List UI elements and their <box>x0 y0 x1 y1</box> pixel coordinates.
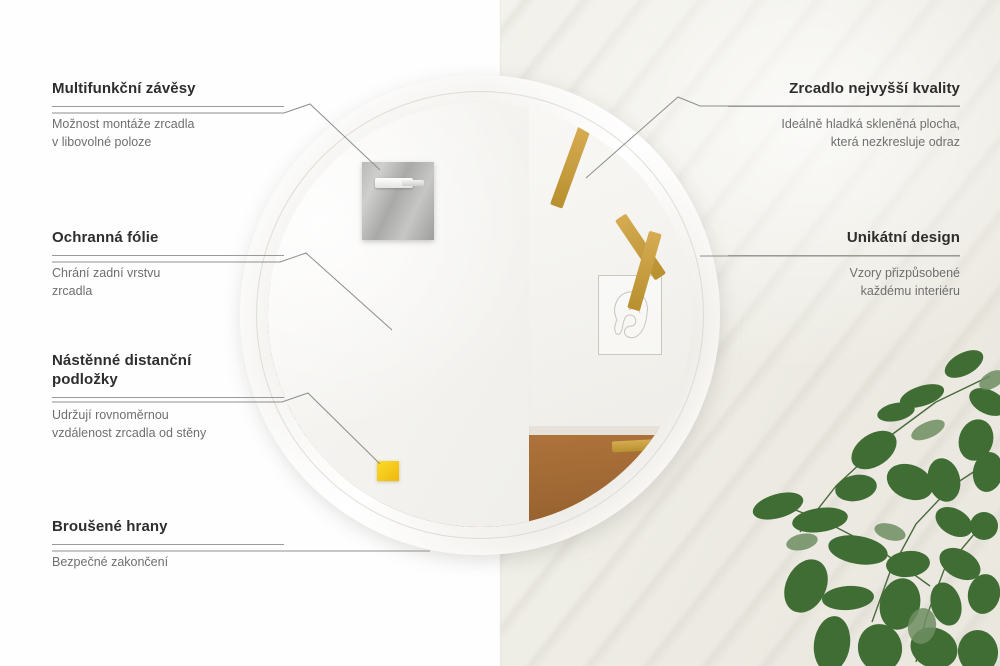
callout-body-line2: vzdálenost zrcadla od stěny <box>52 424 284 442</box>
callout-body-line2: každému interiéru <box>728 282 960 300</box>
callout-rule <box>52 397 284 398</box>
callout-multifunctional-hangers: Multifunkční závěsy Možnost montáže zrca… <box>52 80 284 151</box>
callout-rule <box>52 106 284 107</box>
callout-body-line2: která nezkresluje odraz <box>728 133 960 151</box>
callout-top-quality-mirror: Zrcadlo nejvyšší kvality Ideálně hladká … <box>728 80 960 151</box>
callout-unique-design: Unikátní design Vzory přizpůsobené každé… <box>728 229 960 300</box>
callout-polished-edges: Broušené hrany Bezpečné zakončení <box>52 518 284 571</box>
callout-body-line2: v libovolné poloze <box>52 133 284 151</box>
callout-rule <box>728 106 960 107</box>
callout-rule <box>52 544 284 545</box>
callout-body-line1: Vzory přizpůsobené <box>728 264 960 282</box>
callout-body-line1: Ideálně hladká skleněná plocha, <box>728 115 960 133</box>
infographic-stage: Multifunkční závěsy Možnost montáže zrca… <box>0 0 1000 666</box>
callout-rule <box>728 255 960 256</box>
callout-title: Multifunkční závěsy <box>52 80 284 99</box>
callout-body-line1: Možnost montáže zrcadla <box>52 115 284 133</box>
callout-title: Broušené hrany <box>52 518 284 537</box>
callout-title: Zrcadlo nejvyšší kvality <box>728 80 960 99</box>
callout-title-line2: podložky <box>52 371 284 390</box>
callout-protective-foil: Ochranná fólie Chrání zadní vrstvu zrcad… <box>52 229 284 300</box>
callout-body-line2: zrcadla <box>52 282 284 300</box>
callout-body-line1: Bezpečné zakončení <box>52 553 284 571</box>
callout-body-line1: Udržují rovnoměrnou <box>52 406 284 424</box>
callout-title-line1: Nástěnné distanční <box>52 352 284 371</box>
callout-title: Unikátní design <box>728 229 960 248</box>
callout-wall-spacers: Nástěnné distanční podložky Udržují rovn… <box>52 352 284 442</box>
callout-rule <box>52 255 284 256</box>
callout-body-line1: Chrání zadní vrstvu <box>52 264 284 282</box>
callout-title: Ochranná fólie <box>52 229 284 248</box>
